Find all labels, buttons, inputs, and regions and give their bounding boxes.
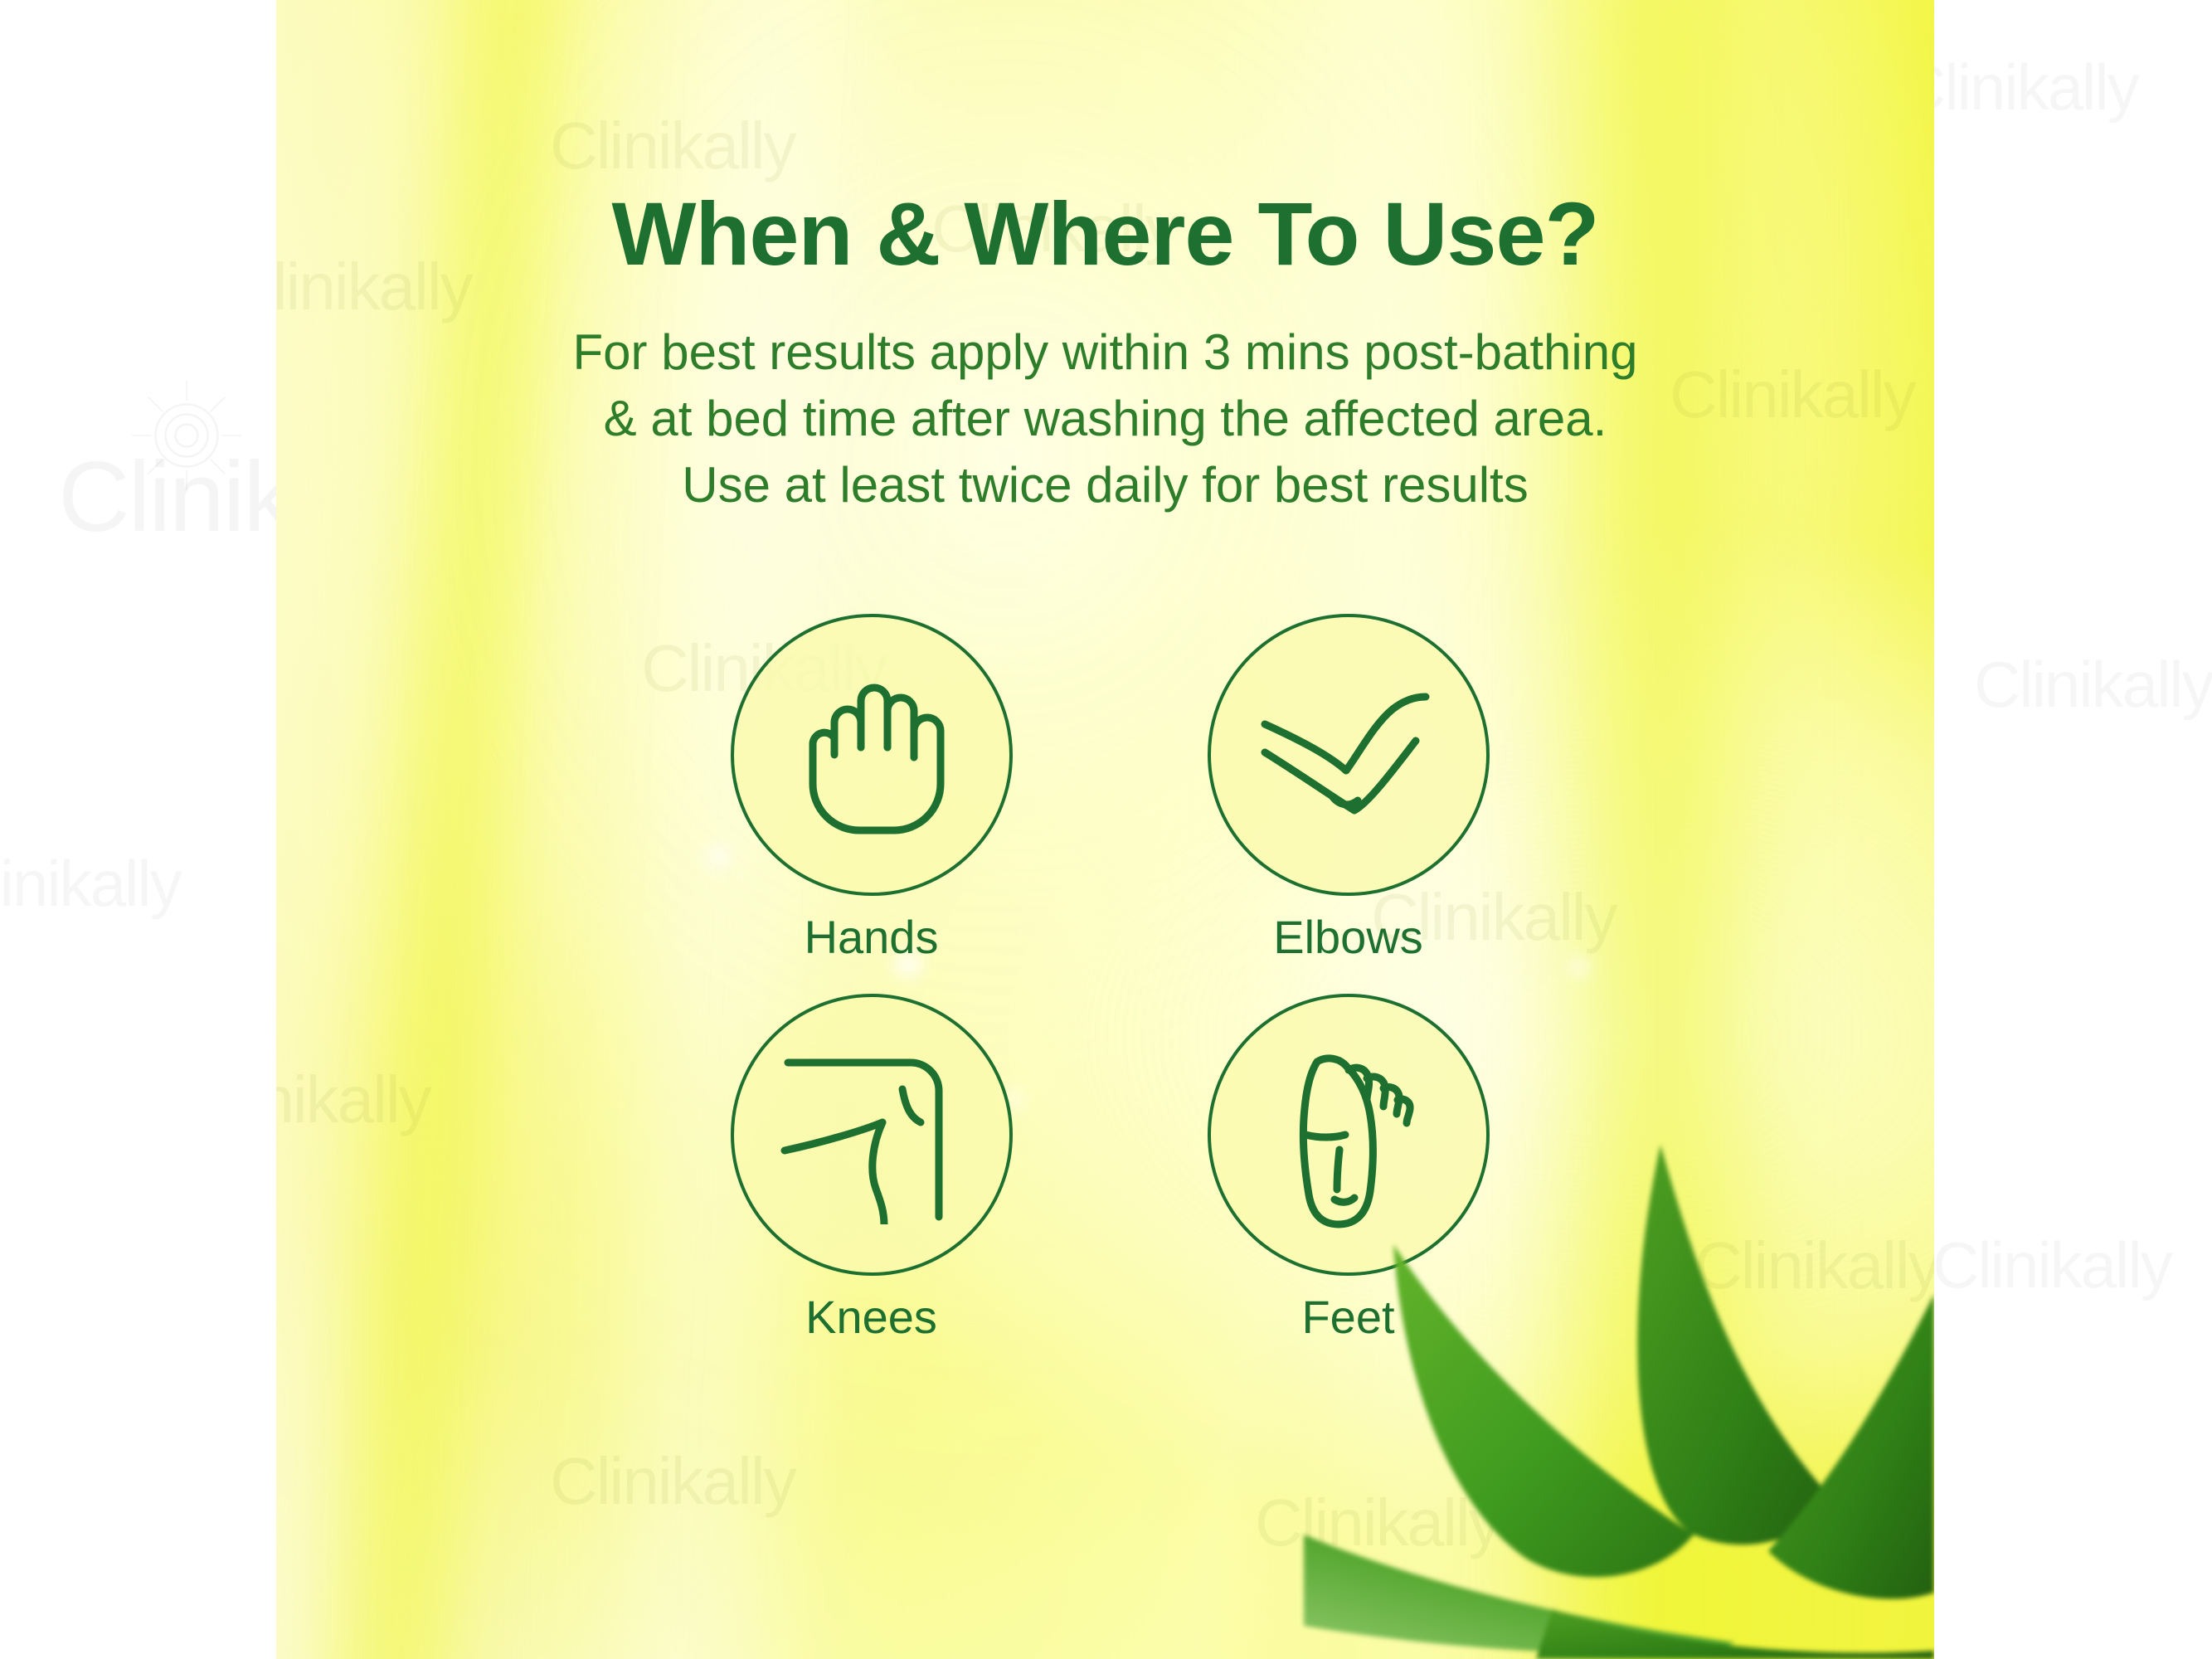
hand-palm-icon [789,668,955,842]
icon-disc [1208,994,1490,1276]
foot-sole-icon [1280,1042,1417,1228]
bent-knee-icon [776,1046,967,1224]
usage-areas-row: Knees [633,994,1587,1340]
usage-areas-row: Hands [633,614,1587,961]
icon-disc [731,994,1013,1276]
usage-area-label: Hands [805,914,939,961]
creative-page: Clinikally Clinikally Clinikally Clinika… [0,0,2212,1659]
brand-watermark: Clinikally [1932,1228,2171,1303]
brand-watermark: Clinikally [0,846,181,922]
usage-area-knees[interactable]: Knees [633,994,1110,1340]
page-title: When & Where To Use? [276,189,1934,279]
subtitle-line: & at bed time after washing the affected… [276,386,1934,452]
usage-area-hands[interactable]: Hands [633,614,1110,961]
usage-area-elbows[interactable]: Elbows [1110,614,1587,961]
brand-watermark: Clinikally [1974,647,2212,722]
usage-area-label: Feet [1301,1294,1394,1340]
subtitle-line: For best results apply within 3 mins pos… [276,319,1934,386]
panel-content: When & Where To Use? For best results ap… [276,0,1934,1659]
sun-logo-icon [124,373,249,502]
bent-elbow-icon [1253,676,1444,834]
brand-watermark: Clinikally [1899,50,2138,125]
usage-areas-grid: Hands [633,614,1587,1340]
creative-panel: Clinikally Clinikally Clinikally Clinika… [276,0,1934,1659]
usage-area-label: Elbows [1273,914,1423,961]
subtitle-line: Use at least twice daily for best result… [276,452,1934,518]
page-subtitle: For best results apply within 3 mins pos… [276,319,1934,518]
usage-area-feet[interactable]: Feet [1110,994,1587,1340]
icon-disc [731,614,1013,896]
usage-area-label: Knees [805,1294,937,1340]
icon-disc [1208,614,1490,896]
